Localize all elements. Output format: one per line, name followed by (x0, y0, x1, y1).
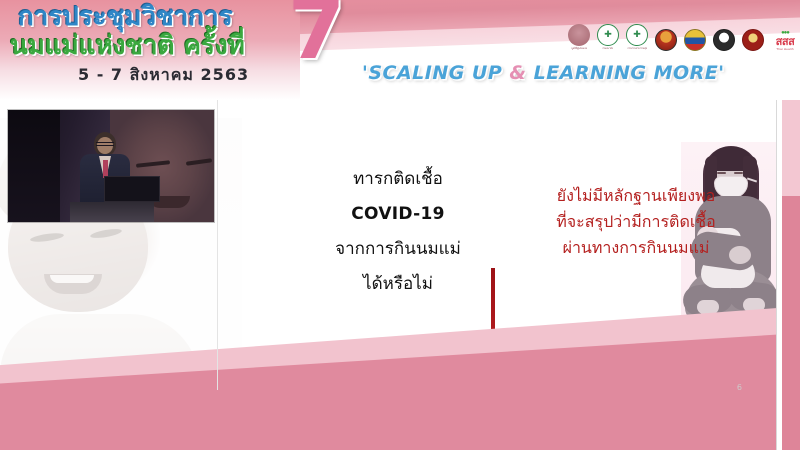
logo-university-2 (682, 29, 708, 51)
logo-ministry-health-2-icon: ✚ (626, 24, 648, 46)
right-edge-strip-light (782, 100, 800, 196)
slide-left-edge (217, 100, 218, 390)
tagline-part2: LEARNING MORE' (526, 62, 724, 84)
video-dark-panel (8, 110, 60, 222)
mother-eyebrow-left (717, 172, 726, 174)
slide-presentation-screen: การประชุมวิชาการ นมแม่แห่งชาติ ครั้งที่ … (0, 0, 800, 450)
answer-line-3: ผ่านทางการกินนมแม่ (502, 235, 770, 261)
conference-edition-number: 7 (288, 0, 345, 72)
answer-text-block: ยังไม่มีหลักฐานเพียงพอ ที่จะสรุปว่ามีการ… (502, 183, 770, 261)
logo-university-3-icon (713, 29, 735, 51)
tagline-part1: 'SCALING UP (362, 62, 509, 84)
answer-line-2: ที่จะสรุปว่ามีการติดเชื้อ (502, 209, 770, 235)
slide-right-edge (776, 100, 777, 450)
baby-teeth (50, 275, 94, 283)
logo-royal-emblem-caption: มูลนิธิศูนย์นมแม่ (571, 47, 587, 51)
right-edge-strip-dark (782, 196, 800, 450)
slide-content-area: ทารกติดเชื้อ COVID-19 จากการกินนมแม่ ได้… (0, 100, 800, 450)
conference-date-range: 5 - 7 สิงหาคม 2563 (78, 63, 249, 88)
question-line-3: จากการกินนมแม่ (318, 232, 478, 267)
logo-university-3 (711, 29, 737, 51)
logo-university-1 (653, 29, 679, 51)
logo-ministry-health-2-caption: กระทรวงสาธารณสุข (627, 47, 647, 51)
conference-tagline: 'SCALING UP & LEARNING MORE' (362, 62, 725, 84)
conference-title-line2: นมแม่แห่งชาติ ครั้งที่ (10, 32, 245, 62)
logo-university-4 (740, 29, 766, 51)
logo-thaihealth-caption: Thai Health (776, 47, 794, 51)
speaker-podium (70, 202, 154, 222)
answer-line-1: ยังไม่มีหลักฐานเพียงพอ (502, 183, 770, 209)
question-line-2: COVID-19 (318, 197, 478, 232)
speaker-video-feed[interactable] (8, 110, 214, 222)
tagline-ampersand: & (509, 62, 526, 84)
question-line-4: ได้หรือไม่ (318, 267, 478, 302)
logo-university-2-icon (684, 29, 706, 51)
question-text-block: ทารกติดเชื้อ COVID-19 จากการกินนมแม่ ได้… (318, 162, 478, 301)
logo-ministry-health-1-caption: กรมอนามัย (603, 47, 614, 51)
sponsor-logo-row: มูลนิธิศูนย์นมแม่ ✚ กรมอนามัย ✚ กระทรวงส… (566, 24, 800, 51)
logo-royal-emblem: มูลนิธิศูนย์นมแม่ (566, 24, 592, 51)
speaker-laptop (104, 176, 160, 202)
speaker-glasses-icon (96, 142, 114, 146)
conference-title-line1: การประชุมวิชาการ (18, 3, 233, 33)
logo-ministry-health-2: ✚ กระทรวงสาธารณสุข (624, 24, 650, 51)
logo-ministry-health-1-icon: ✚ (597, 24, 619, 46)
logo-university-1-icon (655, 29, 677, 51)
logo-university-4-icon (742, 29, 764, 51)
question-line-1: ทารกติดเชื้อ (318, 162, 478, 197)
logo-ministry-health-1: ✚ กรมอนามัย (595, 24, 621, 51)
logo-royal-emblem-icon (568, 24, 590, 46)
slide-page-number: 6 (737, 383, 742, 392)
bottom-bar (0, 422, 800, 450)
mother-eyebrow-right (734, 172, 743, 174)
logo-thaihealth: ●●● สสส Thai Health (769, 30, 800, 51)
logo-thaihealth-text: สสส (776, 36, 795, 47)
